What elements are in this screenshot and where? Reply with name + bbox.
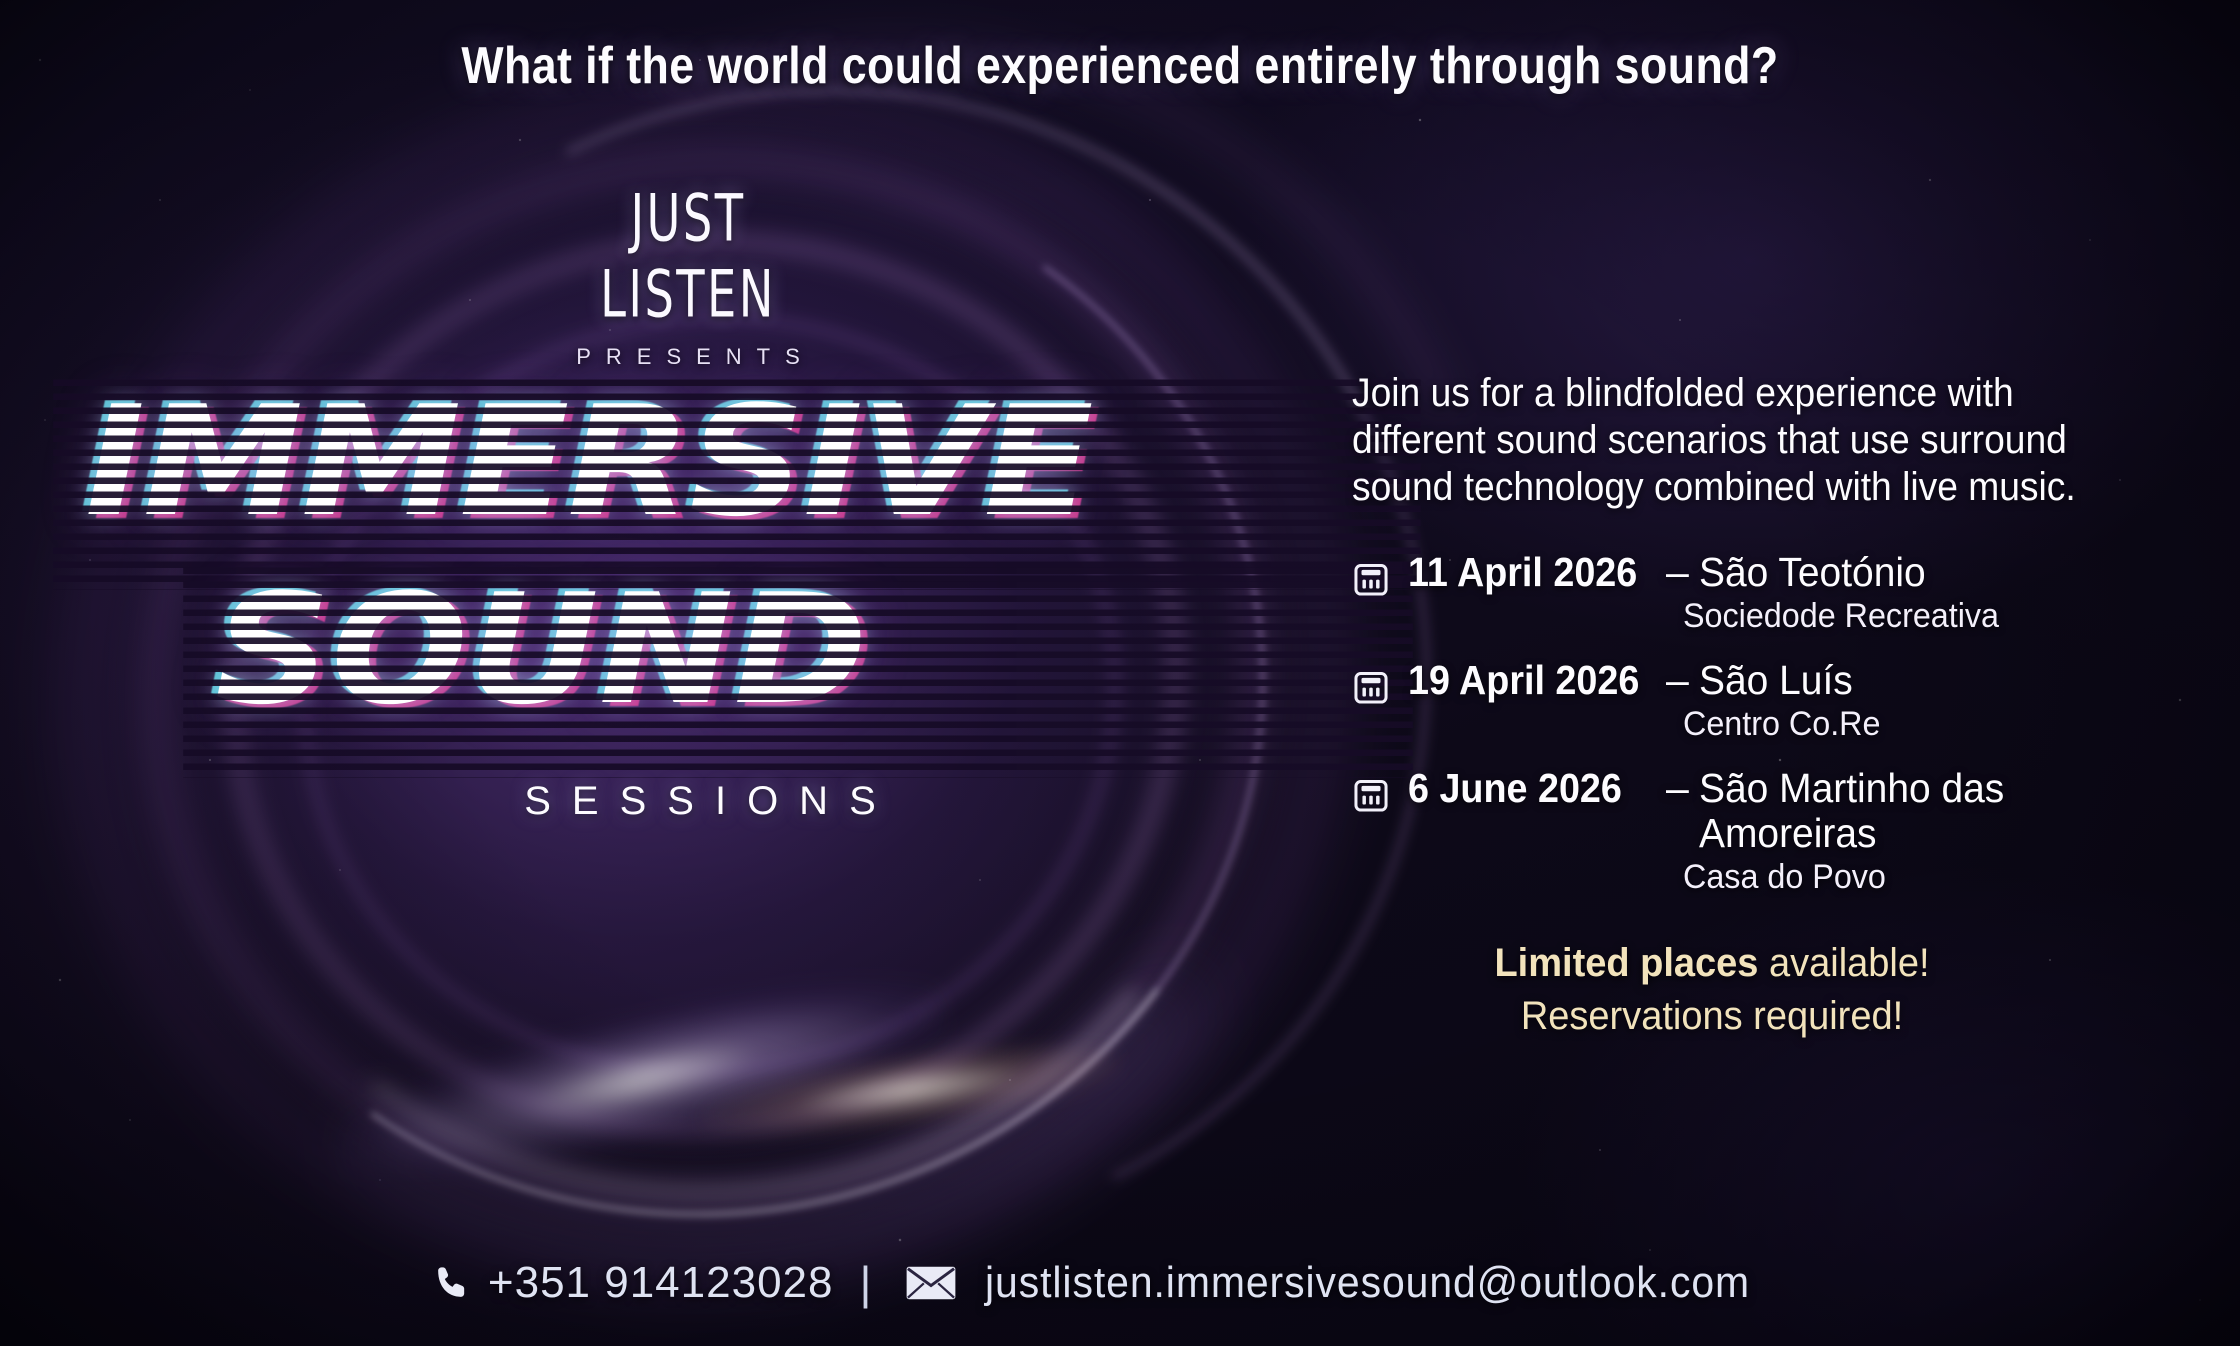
date-value: 19 April 2026 bbox=[1408, 658, 1645, 703]
phone-contact[interactable]: +351 914123028 bbox=[432, 1258, 834, 1308]
availability-notice: Limited places available! Reservations r… bbox=[1362, 941, 2062, 1039]
date-location: São Teotónio bbox=[1699, 550, 1926, 595]
date-dash: – bbox=[1666, 766, 1699, 811]
date-venue: Sociedode Recreativa bbox=[1683, 597, 2167, 636]
date-venue: Centro Co.Re bbox=[1683, 705, 2167, 744]
notice-line2: Reservations required! bbox=[1380, 994, 2045, 1039]
date-venue: Casa do Povo bbox=[1683, 858, 2167, 897]
title-subtitle: SESSIONS bbox=[85, 779, 1315, 824]
title-line-sound: SOUND SOUND SOUND bbox=[215, 580, 1381, 758]
email-contact[interactable]: justlisten.immersivesound@outlook.com bbox=[905, 1258, 1808, 1308]
date-list: 11 April 2026 – São Teotónio Sociedode R… bbox=[1352, 550, 2192, 897]
page-headline: What if the world could experienced enti… bbox=[157, 36, 2083, 96]
date-dash: – bbox=[1666, 658, 1699, 703]
date-dash: – bbox=[1666, 550, 1699, 595]
title-line1-text: IMMERSIVE bbox=[85, 392, 1389, 532]
date-location: São Martinho das Amoreiras bbox=[1699, 766, 2108, 856]
info-column: Join us for a blindfolded experience wit… bbox=[1352, 370, 2192, 1039]
event-description: Join us for a blindfolded experience wit… bbox=[1352, 370, 2133, 512]
brand-presents: PRESENTS bbox=[498, 344, 878, 370]
phone-icon bbox=[432, 1263, 472, 1303]
date-entry: 6 June 2026 – São Martinho das Amoreiras… bbox=[1352, 766, 2192, 897]
brand-name: JUST LISTEN bbox=[536, 180, 840, 332]
date-value: 6 June 2026 bbox=[1408, 766, 1645, 811]
calendar-icon bbox=[1352, 560, 1390, 598]
date-entry: 19 April 2026 – São Luís Centro Co.Re bbox=[1352, 658, 2192, 744]
calendar-icon bbox=[1352, 776, 1390, 814]
contact-bar: +351 914123028 | justlisten.immersivesou… bbox=[0, 1256, 2240, 1310]
title-line2-text: SOUND bbox=[215, 580, 1381, 720]
poster-canvas: What if the world could experienced enti… bbox=[0, 0, 2240, 1346]
date-value: 11 April 2026 bbox=[1408, 550, 1645, 595]
notice-rest: available! bbox=[1758, 941, 1929, 985]
calendar-icon bbox=[1352, 668, 1390, 706]
phone-number: +351 914123028 bbox=[488, 1258, 834, 1308]
title-line-immersive: IMMERSIVE IMMERSIVE IMMERSIVE bbox=[85, 392, 1389, 570]
notice-bold: Limited places bbox=[1494, 941, 1758, 985]
date-entry: 11 April 2026 – São Teotónio Sociedode R… bbox=[1352, 550, 2192, 636]
event-title: IMMERSIVE IMMERSIVE IMMERSIVE SOUND SOUN… bbox=[85, 392, 1315, 758]
date-location: São Luís bbox=[1699, 658, 1853, 703]
brand-lockup: JUST LISTEN PRESENTS bbox=[498, 188, 878, 370]
contact-separator: | bbox=[859, 1256, 871, 1310]
email-address: justlisten.immersivesound@outlook.com bbox=[985, 1258, 1750, 1308]
envelope-icon bbox=[905, 1263, 957, 1303]
